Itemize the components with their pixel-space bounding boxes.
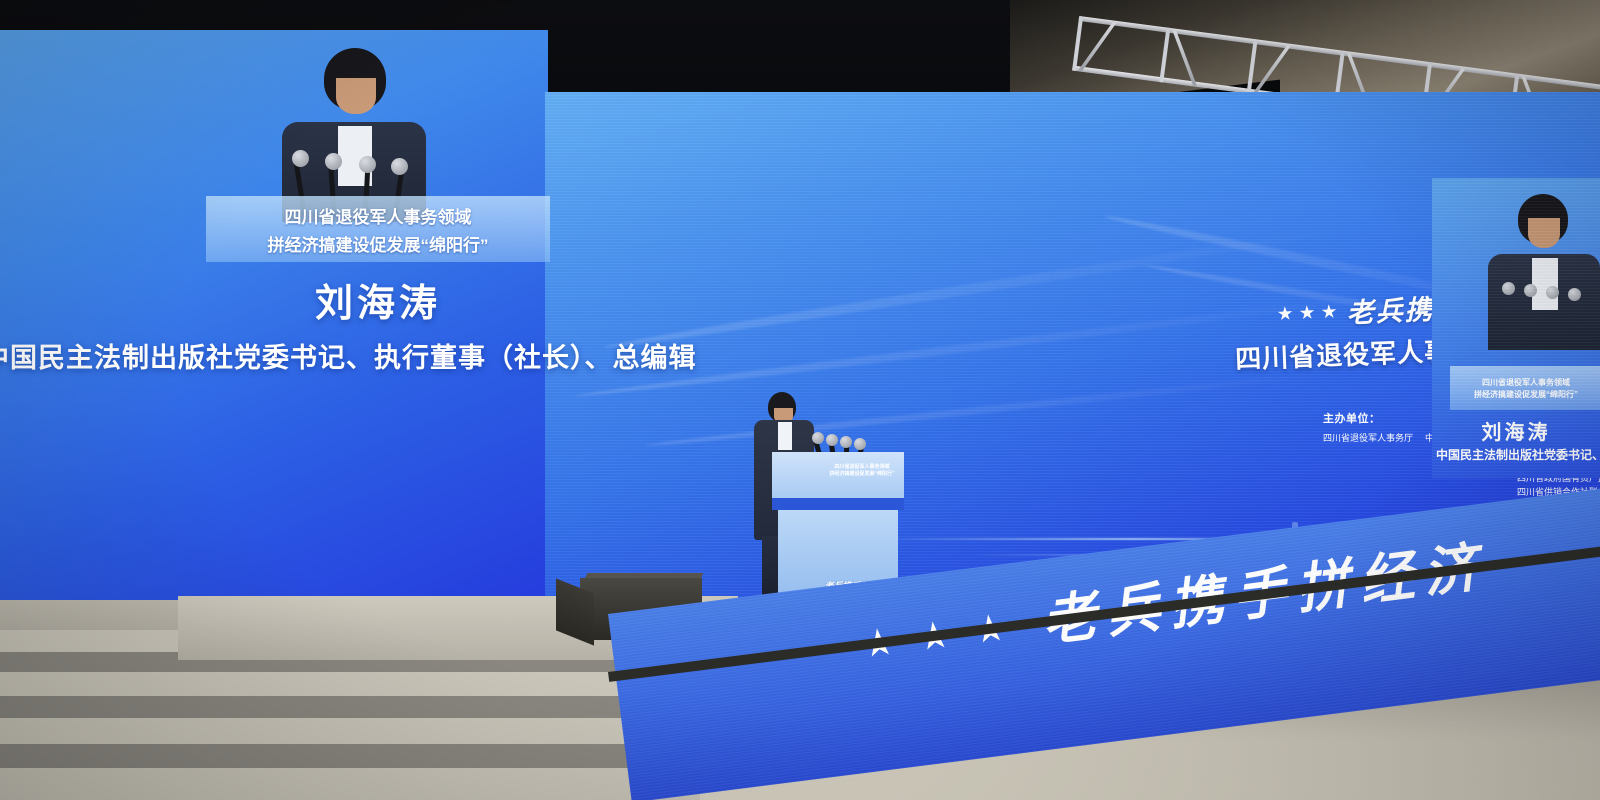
stage-scene: 老兵携手拼经济 科技创新促发展 四川省退役军人事务领域拼经济搞建设促发展“绵阳行… [0, 0, 1600, 800]
left-screen-caption-band: 四川省退役军人事务领域 拼经济搞建设促发展“绵阳行” [206, 196, 550, 262]
caption-line-1: 四川省退役军人事务领域 [1482, 377, 1570, 388]
right-screen-caption-band: 四川省退役军人事务领域 拼经济搞建设促发展“绵阳行” [1450, 366, 1600, 410]
left-screen-speaker-title: 中国民主法制出版社党委书记、执行董事（社长）、总编辑 [0, 336, 642, 375]
projected-speaker-portrait-left [226, 40, 471, 215]
host-organizer-item: 四川省退役军人事务厅 [1323, 432, 1413, 444]
right-screen-panel: 四川省退役军人事务领域 拼经济搞建设促发展“绵阳行” 刘海涛 中国民主法制出版社… [1432, 178, 1600, 478]
caption-line-2: 拼经济搞建设促发展“绵阳行” [268, 231, 489, 256]
caption-line-2: 拼经济搞建设促发展“绵阳行” [1474, 389, 1578, 400]
podium-caption: 四川省退役军人事务领域 拼经济搞建设促发展“绵阳行” [824, 464, 900, 478]
left-screen-speaker-name: 刘海涛 [206, 272, 550, 327]
podium-caption-line-1: 四川省退役军人事务领域 [824, 464, 900, 471]
caption-line-1: 四川省退役军人事务领域 [285, 203, 472, 228]
podium-caption-line-2: 拼经济搞建设促发展“绵阳行” [824, 471, 900, 478]
star-decoration-left [1277, 304, 1337, 322]
right-screen-speaker-name: 刘海涛 [1432, 416, 1600, 445]
right-screen-speaker-title: 中国民主法制出版社党委书记、执行董 [1432, 446, 1600, 463]
